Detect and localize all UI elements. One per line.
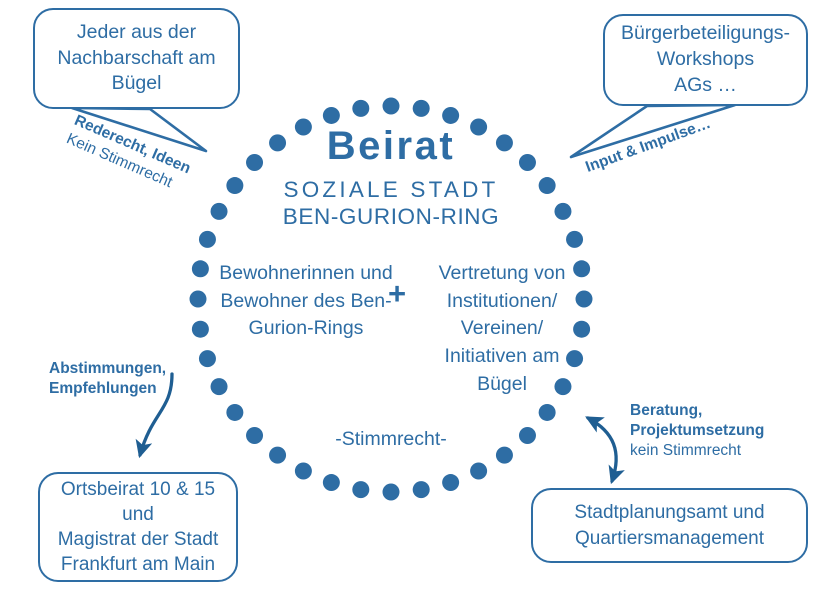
node-planning-office[interactable]: Stadtplanungsamt und Quartiersmanagement bbox=[531, 488, 808, 563]
column-representation-line: Institutionen/ bbox=[447, 290, 558, 312]
column-representation: Vertretung von Institutionen/ Vereinen/ … bbox=[424, 260, 580, 398]
ring-dot bbox=[192, 321, 209, 338]
ring-dot bbox=[539, 177, 556, 194]
diagram-canvas: Beirat SOZIALE STADT BEN-GURION-RING Bew… bbox=[0, 0, 820, 600]
callout-participation-line: AGs … bbox=[621, 73, 790, 99]
ring-dot bbox=[519, 154, 536, 171]
ring-dot bbox=[190, 291, 207, 308]
node-planning-office-line: Quartiersmanagement bbox=[574, 526, 764, 551]
subtitle-soziale-stadt: SOZIALE STADT bbox=[241, 176, 541, 203]
callout-participation-line: Workshops bbox=[621, 47, 790, 73]
label-abstimmungen-line: Empfehlungen bbox=[49, 379, 166, 399]
callout-neighbourhood[interactable]: Jeder aus der Nachbarschaft am Bügel bbox=[33, 8, 240, 109]
label-abstimmungen: Abstimmungen, Empfehlungen bbox=[49, 359, 166, 399]
callout-neighbourhood-line: Nachbarschaft am bbox=[57, 46, 215, 72]
node-planning-office-line: Stadtplanungsamt und bbox=[574, 500, 764, 525]
ring-dot bbox=[352, 100, 369, 117]
label-abstimmungen-line: Abstimmungen, bbox=[49, 359, 166, 379]
label-beratung: Beratung, Projektumsetzung kein Stimmrec… bbox=[630, 401, 764, 461]
ring-dot bbox=[226, 404, 243, 421]
page-title: Beirat bbox=[291, 126, 491, 166]
ring-dot bbox=[470, 462, 487, 479]
column-representation-line: von bbox=[534, 262, 565, 284]
callout-participation-line: Bürgerbeteiligungs- bbox=[621, 21, 790, 47]
node-local-council-line: Frankfurt am Main bbox=[58, 552, 219, 577]
node-local-council[interactable]: Ortsbeirat 10 & 15 und Magistrat der Sta… bbox=[38, 472, 238, 582]
ring-dot bbox=[199, 350, 216, 367]
ring-dot bbox=[192, 260, 209, 277]
ring-dot bbox=[383, 484, 400, 501]
ring-dot bbox=[269, 134, 286, 151]
ring-dot bbox=[413, 100, 430, 117]
ring-dot bbox=[554, 203, 571, 220]
ring-dot bbox=[442, 107, 459, 124]
node-local-council-line: Ortsbeirat 10 & 15 bbox=[58, 477, 219, 502]
column-residents: Bewohnerinnen und Bewohner des Ben-Gurio… bbox=[216, 260, 396, 343]
column-residents-line: Bewohnerinnen bbox=[219, 262, 355, 284]
subtitle-ben-gurion-ring: BEN-GURION-RING bbox=[241, 203, 541, 230]
ring-dot bbox=[519, 427, 536, 444]
node-local-council-line: Magistrat der Stadt bbox=[58, 527, 219, 552]
callout-neighbourhood-line: Jeder aus der bbox=[57, 20, 215, 46]
callout-participation[interactable]: Bürgerbeteiligungs- Workshops AGs … bbox=[603, 14, 808, 106]
ring-dot bbox=[442, 474, 459, 491]
ring-dot bbox=[413, 481, 430, 498]
ring-dot bbox=[496, 447, 513, 464]
ring-dot bbox=[246, 154, 263, 171]
voting-right-note: -Stimmrecht- bbox=[306, 428, 476, 451]
label-beratung-line: kein Stimmrecht bbox=[630, 441, 764, 461]
ring-dot bbox=[496, 134, 513, 151]
ring-dot bbox=[295, 462, 312, 479]
ring-dot bbox=[323, 107, 340, 124]
column-residents-line: des bbox=[314, 290, 345, 312]
ring-dot bbox=[539, 404, 556, 421]
ring-dot bbox=[323, 474, 340, 491]
ring-dot bbox=[352, 481, 369, 498]
ring-dot bbox=[566, 231, 583, 248]
column-representation-line: Vereinen/ bbox=[461, 317, 543, 339]
callout-neighbourhood-line: Bügel bbox=[57, 71, 215, 97]
ring-dot bbox=[199, 231, 216, 248]
label-beratung-line: Projektumsetzung bbox=[630, 421, 764, 441]
arrow-beratung bbox=[588, 418, 616, 481]
column-representation-line: Initiativen bbox=[445, 345, 527, 367]
ring-dot bbox=[246, 427, 263, 444]
column-representation-line: Vertretung bbox=[439, 262, 529, 284]
ring-dot bbox=[211, 378, 228, 395]
node-local-council-line: und bbox=[58, 502, 219, 527]
ring-dot bbox=[383, 98, 400, 115]
plus-symbol: + bbox=[382, 278, 412, 309]
ring-dot bbox=[211, 203, 228, 220]
ring-dot bbox=[269, 447, 286, 464]
label-beratung-line: Beratung, bbox=[630, 401, 764, 421]
